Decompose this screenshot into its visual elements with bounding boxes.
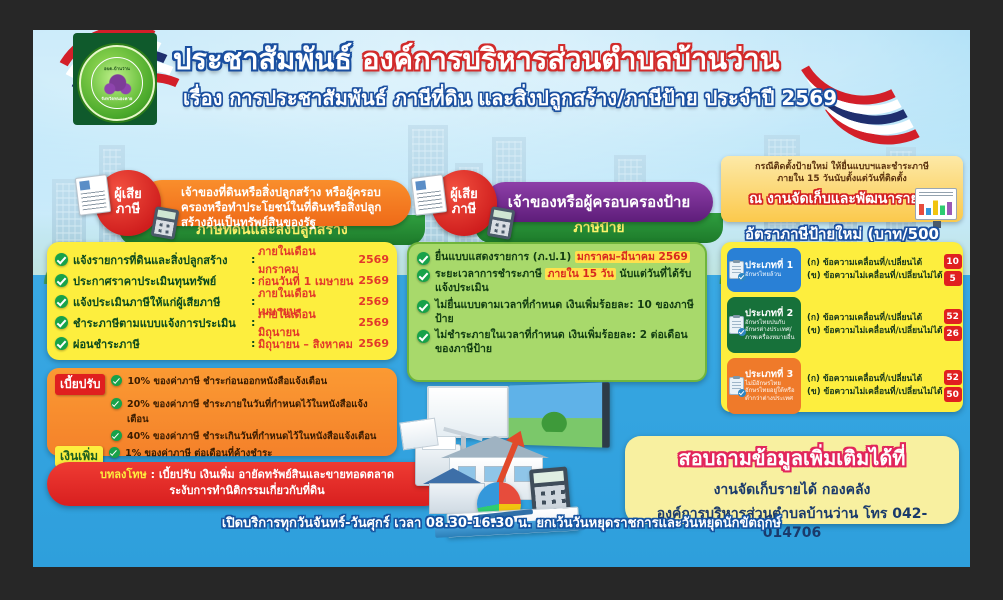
- rate-category-3: ประเภทที่ 3 ไม่มีอักษรไทย อักษรไทยอยู่ใต…: [727, 358, 801, 414]
- page-title: ประชาสัมพันธ์ องค์การบริหารส่วนตำบลบ้านว…: [173, 44, 863, 76]
- punishment-tag: บทลงโทษ: [100, 468, 147, 481]
- rate-value: 52: [944, 370, 962, 385]
- check-icon: [111, 398, 122, 409]
- rate-category-1: ประเภทที่ 1 อักษรไทยล้วน: [727, 248, 801, 292]
- schedule-year: 2569: [355, 316, 389, 329]
- rate-label: (ก) ข้อความเคลื่อนที่/เปลี่ยนได้: [807, 257, 943, 270]
- rate-value: 5: [944, 271, 962, 286]
- sign-rule-highlight: มกราคม–มีนาคม 2569: [575, 251, 690, 263]
- contact-department: งานจัดเก็บรายได้ กองคลัง: [633, 479, 951, 501]
- land-payer-text: เจ้าของที่ดินหรือสิ่งปลูกสร้าง หรือผู้คร…: [181, 185, 381, 229]
- list-item: ไม่ยื่นแบบตามเวลาที่กำหนด เงินเพิ่มร้อยล…: [417, 299, 697, 327]
- schedule-year: 2569: [355, 253, 389, 266]
- separator: :: [251, 316, 258, 329]
- sign-rule-text: ยื่นแบบแสดงรายการ (ภ.ป.1) มกราคม–มีนาคม …: [435, 251, 690, 265]
- rate-descriptions: (ก) ข้อความเคลื่อนที่/เปลี่ยนได้ (ข) ข้อ…: [801, 373, 943, 399]
- schedule-name: แจ้งรายการที่ดินและสิ่งปลูกสร้าง: [73, 251, 251, 269]
- check-icon: [109, 447, 120, 458]
- land-payer-badge-line1: ผู้เสีย: [114, 188, 142, 203]
- fine-tag: เบี้ยปรับ: [55, 374, 105, 395]
- penalty-text: 20% ของค่าภาษี ชำระภายในวันที่กำหนดไว้ใน…: [127, 397, 389, 427]
- rate-values: 52 50: [943, 370, 963, 402]
- category-name: ประเภทที่ 1: [745, 261, 797, 271]
- sign-tax-rate-table: ประเภทที่ 1 อักษรไทยล้วน (ก) ข้อความเคลื…: [721, 242, 963, 412]
- separator: :: [251, 295, 258, 308]
- organization-logo: อบต.บ้านว่าน จังหวัดหนองคาย: [67, 33, 163, 129]
- penalty-text: 1% ของค่าภาษี ต่อเดือนที่ค้างชำระ: [125, 446, 272, 461]
- category-subtitle: อักษรไทยล้วน: [745, 271, 797, 279]
- house2-roof: [423, 468, 483, 484]
- rate-label: (ข) ข้อความไม่เคลื่อนที่/เปลี่ยนไม่ได้: [807, 270, 943, 283]
- separator: :: [251, 253, 258, 266]
- check-icon: [55, 253, 68, 266]
- punishment-line-1: บทลงโทษ : เบี้ยปรับ เงินเพิ่ม อายัดทรัพย…: [59, 467, 435, 483]
- rate-category-2: ประเภทที่ 2 อักษรไทยปนกับอักษรต่างประเทศ…: [727, 297, 801, 353]
- table-row: ประเภทที่ 2 อักษรไทยปนกับอักษรต่างประเทศ…: [727, 297, 957, 353]
- list-item: ระยะเวลาการชำระภาษี ภายใน 15 วัน นับแต่ว…: [417, 268, 697, 296]
- rate-value: 26: [944, 326, 962, 341]
- check-icon: [55, 316, 68, 329]
- category-subtitle: ไม่มีอักษรไทย อักษรไทยอยู่ใต้หรือต่ำกว่า…: [745, 380, 797, 403]
- list-item: เบี้ยปรับ 10% ของค่าภาษี ชำระก่อนออกหนัง…: [55, 374, 389, 395]
- sign-payer-badge-line1: ผู้เสีย: [450, 188, 478, 203]
- notice-line-2: ภายใน 15 วันนับตั้งแต่วันที่ติดตั้ง: [727, 173, 957, 185]
- check-icon: [417, 269, 430, 282]
- schedule-year: 2569: [355, 274, 389, 287]
- logo-bottom-text: จังหวัดหนองคาย: [92, 95, 142, 102]
- rate-descriptions: (ก) ข้อความเคลื่อนที่/เปลี่ยนได้ (ข) ข้อ…: [801, 257, 943, 283]
- sign-rule-text: ไม่ชำระภายในเวลาที่กำหนด เงินเพิ่มร้อยละ…: [435, 329, 697, 357]
- document-icon: [411, 174, 447, 216]
- logo-top-text: อบต.บ้านว่าน: [92, 65, 142, 72]
- logo-disc: อบต.บ้านว่าน จังหวัดหนองคาย: [79, 45, 155, 121]
- punishment-text-1: : เบี้ยปรับ เงินเพิ่ม อายัดทรัพย์สินและข…: [151, 468, 394, 481]
- list-item: 40% ของค่าภาษี ชำระเกินวันที่กำหนดไว้ในห…: [111, 429, 389, 444]
- check-icon: [111, 430, 122, 441]
- service-hours-bar: เปิดบริการทุกวันจันทร์-วันศุกร์ เวลา 08.…: [33, 512, 970, 533]
- check-icon: [111, 375, 122, 386]
- notice-line-1: กรณีติดตั้งป้ายใหม่ ให้ยื่นแบบฯและชำระภา…: [727, 161, 957, 173]
- category-name: ประเภทที่ 3: [745, 370, 797, 380]
- table-row: ผ่อนชำระภาษี : มิถุนายน – สิงหาคม 2569: [55, 333, 389, 354]
- sign-payer-description: เจ้าของหรือผู้ครอบครองป้าย: [485, 182, 713, 222]
- schedule-date: มิถุนายน – สิงหาคม: [258, 335, 355, 353]
- land-payer-description: เจ้าของที่ดินหรือสิ่งปลูกสร้าง หรือผู้คร…: [139, 180, 411, 226]
- penalty-text: 10% ของค่าภาษี ชำระก่อนออกหนังสือแจ้งเตื…: [127, 374, 327, 389]
- rate-value: 10: [944, 254, 962, 269]
- penalty-panel: เบี้ยปรับ 10% ของค่าภาษี ชำระก่อนออกหนัง…: [47, 368, 397, 456]
- punishment-bar: บทลงโทษ : เบี้ยปรับ เงินเพิ่ม อายัดทรัพย…: [47, 462, 447, 506]
- clipboard-check-icon: [729, 377, 744, 395]
- contact-box: สอบถามข้อมูลเพิ่มเติมได้ที่ งานจัดเก็บรา…: [625, 436, 959, 524]
- calculator-icon: [151, 206, 180, 240]
- sign-rule-highlight: ภายใน 15 วัน: [545, 268, 615, 280]
- blank-billboard-icon: [427, 386, 509, 438]
- separator: :: [251, 274, 258, 287]
- check-icon: [55, 337, 68, 350]
- check-icon: [55, 295, 68, 308]
- document-icon: [75, 174, 111, 216]
- sign-rule-pre: ยื่นแบบแสดงรายการ (ภ.ป.1): [435, 251, 571, 263]
- schedule-name: แจ้งประเมินภาษีให้แก่ผู้เสียภาษี: [73, 293, 251, 311]
- sign-rule-text: ไม่ยื่นแบบตามเวลาที่กำหนด เงินเพิ่มร้อยล…: [435, 299, 697, 327]
- list-item: 20% ของค่าภาษี ชำระภายในวันที่กำหนดไว้ใน…: [111, 397, 389, 427]
- check-icon: [55, 274, 68, 287]
- sign-tax-rules-panel: ยื่นแบบแสดงรายการ (ภ.ป.1) มกราคม–มีนาคม …: [407, 242, 707, 382]
- rate-values: 52 26: [943, 309, 963, 341]
- poster: อบต.บ้านว่าน จังหวัดหนองคาย ประชาสัมพันธ…: [33, 30, 970, 567]
- check-icon: [417, 252, 430, 265]
- poster-header: อบต.บ้านว่าน จังหวัดหนองคาย ประชาสัมพันธ…: [33, 30, 970, 135]
- page-subtitle: เรื่อง การประชาสัมพันธ์ ภาษีที่ดิน และสิ…: [183, 82, 883, 114]
- title-organization: องค์การบริหารส่วนตำบลบ้านว่าน: [362, 42, 779, 76]
- land-payer-badge: ผู้เสีย ภาษี: [95, 170, 161, 236]
- schedule-name: ชำระภาษีตามแบบแจ้งการประเมิน: [73, 314, 251, 332]
- temple-icon: [99, 72, 135, 96]
- table-row: ประเภทที่ 3 ไม่มีอักษรไทย อักษรไทยอยู่ใต…: [727, 358, 957, 414]
- schedule-year: 2569: [355, 295, 389, 308]
- contact-heading: สอบถามข้อมูลเพิ่มเติมได้ที่: [633, 442, 951, 474]
- sign-rule-pre: ระยะเวลาการชำระภาษี: [435, 268, 542, 280]
- table-row: ประเภทที่ 1 อักษรไทยล้วน (ก) ข้อความเคลื…: [727, 248, 957, 292]
- calculator-icon: [487, 206, 516, 240]
- new-sign-notice: กรณีติดตั้งป้ายใหม่ ให้ยื่นแบบฯและชำระภา…: [721, 156, 963, 222]
- monitor-chart-icon: [915, 188, 957, 220]
- rate-label: (ก) ข้อความเคลื่อนที่/เปลี่ยนได้: [807, 373, 943, 386]
- schedule-year: 2569: [355, 337, 389, 350]
- separator: :: [251, 337, 258, 350]
- land-payer-badge-line2: ภาษี: [116, 203, 140, 218]
- punishment-line-2: ระงับการทำนิติกรรมเกี่ยวกับที่ดิน: [59, 483, 435, 499]
- schedule-name: ประกาศราคาประเมินทุนทรัพย์: [73, 272, 251, 290]
- check-icon: [417, 330, 430, 343]
- penalty-text: 40% ของค่าภาษี ชำระเกินวันที่กำหนดไว้ในห…: [127, 429, 376, 444]
- schedule-name: ผ่อนชำระภาษี: [73, 335, 251, 353]
- sign-payer-text: เจ้าของหรือผู้ครอบครองป้าย: [508, 190, 690, 214]
- list-item: ไม่ชำระภายในเวลาที่กำหนด เงินเพิ่มร้อยละ…: [417, 329, 697, 357]
- document-stack-icon: [399, 418, 439, 451]
- list-item: ยื่นแบบแสดงรายการ (ภ.ป.1) มกราคม–มีนาคม …: [417, 251, 697, 265]
- screenshot-root: อบต.บ้านว่าน จังหวัดหนองคาย ประชาสัมพันธ…: [0, 0, 1003, 600]
- land-tax-schedule-panel: แจ้งรายการที่ดินและสิ่งปลูกสร้าง : ภายใน…: [47, 242, 397, 360]
- category-name: ประเภทที่ 2: [745, 309, 797, 319]
- clipboard-check-icon: [729, 316, 744, 334]
- category-subtitle: อักษรไทยปนกับอักษรต่างประเทศ/ภาพเครื่องห…: [745, 319, 797, 342]
- sign-payer-badge: ผู้เสีย ภาษี: [431, 170, 497, 236]
- sign-payer-badge-line2: ภาษี: [452, 203, 476, 218]
- rate-value: 52: [944, 309, 962, 324]
- table-row: แจ้งรายการที่ดินและสิ่งปลูกสร้าง : ภายใน…: [55, 249, 389, 270]
- house-roof: [441, 436, 549, 458]
- rate-label: (ก) ข้อความเคลื่อนที่/เปลี่ยนได้: [807, 312, 943, 325]
- sign-rule-text: ระยะเวลาการชำระภาษี ภายใน 15 วัน นับแต่ว…: [435, 268, 697, 296]
- rate-descriptions: (ก) ข้อความเคลื่อนที่/เปลี่ยนได้ (ข) ข้อ…: [801, 312, 943, 338]
- clipboard-check-icon: [729, 261, 744, 279]
- rate-label: (ข) ข้อความไม่เคลื่อนที่/เปลี่ยนไม่ได้: [807, 386, 943, 399]
- rate-label: (ข) ข้อความไม่เคลื่อนที่/เปลี่ยนไม่ได้: [807, 325, 943, 338]
- check-icon: [417, 300, 430, 313]
- logo-inner-ring: อบต.บ้านว่าน จังหวัดหนองคาย: [91, 57, 143, 109]
- rate-values: 10 5: [943, 254, 963, 286]
- rate-value: 50: [944, 387, 962, 402]
- table-row: ชำระภาษีตามแบบแจ้งการประเมิน : ภายในเดือ…: [55, 312, 389, 333]
- title-primary: ประชาสัมพันธ์: [173, 42, 352, 76]
